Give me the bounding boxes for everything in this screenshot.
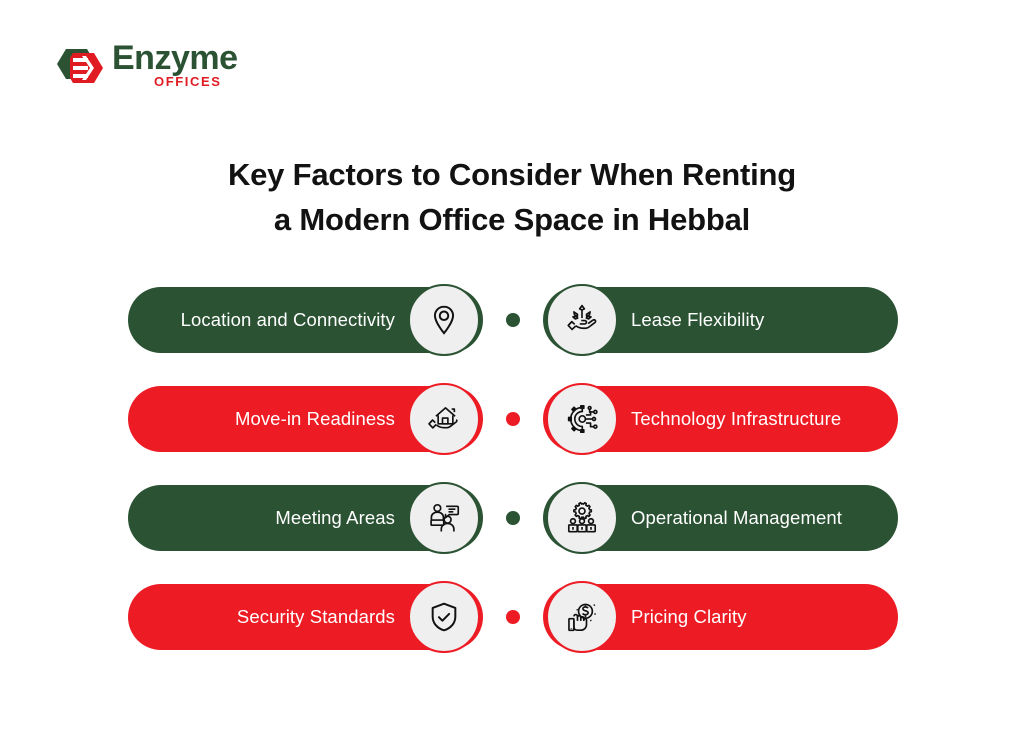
row-separator-dot — [506, 313, 520, 327]
factor-card-pricing-clarity[interactable]: Pricing Clarity — [543, 584, 898, 650]
brand-subtitle: OFFICES — [154, 75, 222, 88]
factor-label: Location and Connectivity — [181, 309, 395, 331]
factor-card-operational-management[interactable]: Operational Management — [543, 485, 898, 551]
factor-card-lease-flexibility[interactable]: Lease Flexibility — [543, 287, 898, 353]
factor-label: Lease Flexibility — [631, 309, 764, 331]
row-separator-dot — [506, 610, 520, 624]
factor-label: Pricing Clarity — [631, 606, 747, 628]
hand-dollar-coin-icon — [546, 581, 618, 653]
row-separator-dot — [506, 412, 520, 426]
factor-row: Meeting Areas — [0, 485, 1024, 551]
factor-card-meeting-areas[interactable]: Meeting Areas — [128, 485, 483, 551]
factor-row: Location and Connectivity — [0, 287, 1024, 353]
factor-card-technology-infrastructure[interactable]: Technology Infrastructure — [543, 386, 898, 452]
enzyme-hexagon-logo-icon — [56, 40, 104, 88]
factor-card-location-and-connectivity[interactable]: Location and Connectivity — [128, 287, 483, 353]
factor-row: Move-in Readiness — [0, 386, 1024, 452]
shield-check-icon — [408, 581, 480, 653]
page-title-line-1: Key Factors to Consider When Renting — [0, 153, 1024, 198]
row-separator-dot — [506, 511, 520, 525]
map-pin-icon — [408, 284, 480, 356]
hand-flexibility-icon — [546, 284, 618, 356]
brand-wordmark: Enzyme OFFICES — [112, 40, 238, 88]
factor-label: Security Standards — [237, 606, 395, 628]
factor-card-move-in-readiness[interactable]: Move-in Readiness — [128, 386, 483, 452]
brand-logo[interactable]: Enzyme OFFICES — [56, 40, 238, 88]
people-speech-bubble-icon — [408, 482, 480, 554]
page-title-line-2: a Modern Office Space in Hebbal — [0, 198, 1024, 243]
factor-label: Move-in Readiness — [235, 408, 395, 430]
gear-circuit-icon — [546, 383, 618, 455]
house-in-hand-icon — [408, 383, 480, 455]
factor-row: Security Standards — [0, 584, 1024, 650]
factor-label: Operational Management — [631, 507, 842, 529]
factors-list: Location and Connectivity — [0, 287, 1024, 650]
factor-label: Technology Infrastructure — [631, 408, 841, 430]
factor-card-security-standards[interactable]: Security Standards — [128, 584, 483, 650]
brand-name: Enzyme — [112, 42, 238, 74]
page-title: Key Factors to Consider When Renting a M… — [0, 153, 1024, 243]
factor-label: Meeting Areas — [275, 507, 395, 529]
gear-people-icon — [546, 482, 618, 554]
